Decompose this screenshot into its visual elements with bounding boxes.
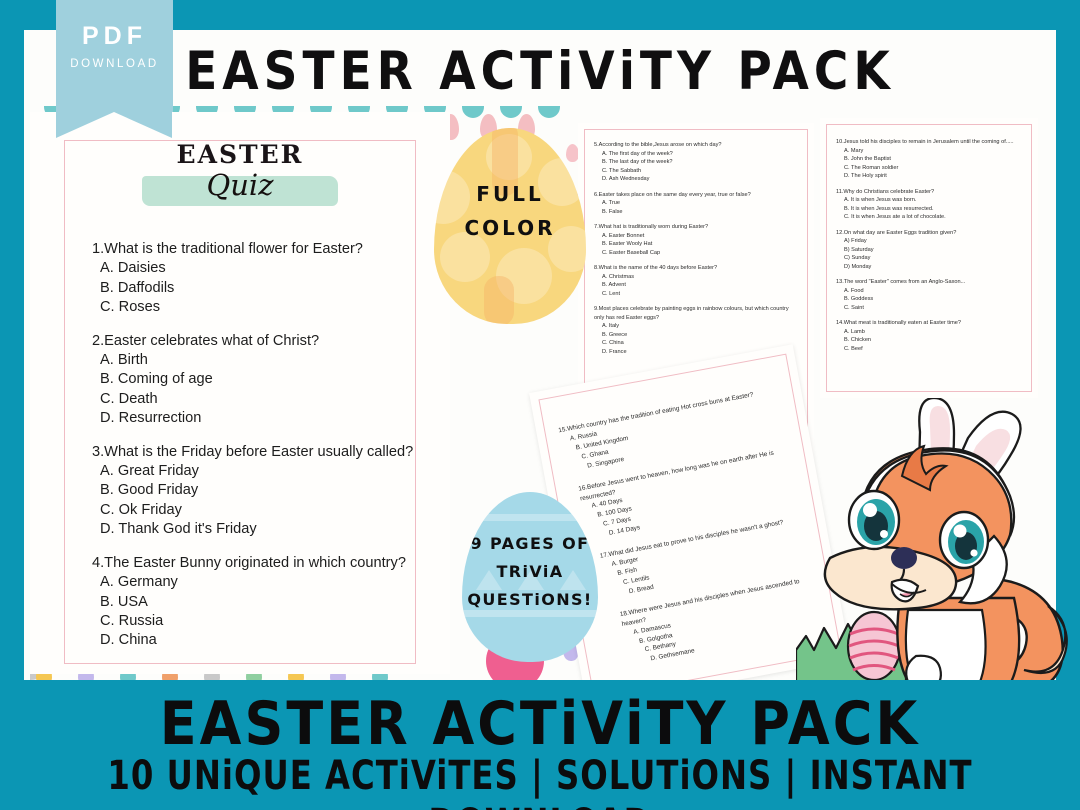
easter-egg-striped (848, 612, 900, 680)
question-option: A. It is when Jesus was born. (844, 196, 1026, 205)
fox-bunny-mascot (796, 398, 1080, 698)
trivia-pages-badge: 9 PAGES OF TRiViA QUESTiONS! (462, 492, 598, 662)
question-block: 11.Why do Christians celebrate Easter?A.… (836, 188, 1026, 222)
full-color-line1: FULL (434, 182, 586, 206)
question-text: 7.What hat is traditionally worn during … (594, 223, 798, 232)
question-option: C. It is when Jesus ate a lot of chocola… (844, 213, 1026, 222)
question-option: B. False (602, 208, 798, 217)
question-option: B) Saturday (844, 246, 1026, 255)
question-option: A. Italy (602, 322, 798, 331)
question-option: A. The first day of the week? (602, 150, 798, 159)
question-option: A. Christmas (602, 273, 798, 282)
question-option: C. Saint (844, 304, 1026, 313)
question-option: B. Easter Wooly Hat (602, 240, 798, 249)
question-block: 3.What is the Friday before Easter usual… (92, 443, 422, 540)
question-option: B. John the Baptist (844, 155, 1026, 164)
question-block: 13.The word "Easter" comes from an Anglo… (836, 278, 1026, 312)
question-block: 1.What is the traditional flower for Eas… (92, 240, 422, 318)
question-option: A. Easter Bonnet (602, 232, 798, 241)
question-option: B. It is when Jesus was resurrected. (844, 205, 1026, 214)
question-option: B. Daffodils (100, 279, 422, 298)
fox-head (825, 446, 1014, 609)
question-option: A) Friday (844, 237, 1026, 246)
question-option: B. The last day of the week? (602, 158, 798, 167)
trivia-line3: QUESTiONS! (462, 590, 598, 609)
question-option: A. Germany (100, 573, 422, 592)
question-option: B. Greece (602, 331, 798, 340)
question-option: A. Great Friday (100, 462, 422, 481)
question-block: 6.Easter takes place on the same day eve… (594, 191, 798, 217)
quiz-page-left: EASTER Quiz 1.What is the traditional fl… (30, 112, 450, 674)
pdf-ribbon-subtitle: DOWNLOAD (56, 58, 173, 70)
right-question-list: 10.Jesus told his disciples to remain in… (836, 138, 1026, 360)
question-text: 1.What is the traditional flower for Eas… (92, 240, 422, 259)
question-text: 8.What is the name of the 40 days before… (594, 264, 798, 273)
question-text: 6.Easter takes place on the same day eve… (594, 191, 798, 200)
pdf-ribbon-title: PDF (56, 22, 173, 51)
footer-subtitle: 10 UNiQUE ACTiViTES | SOLUTiONS | INSTAN… (11, 751, 1069, 810)
fox-eye-right (940, 512, 988, 568)
quiz-question-list: 1.What is the traditional flower for Eas… (92, 240, 422, 665)
question-option: C. Ok Friday (100, 501, 422, 520)
question-block: 5.According to the bible,Jesus arose on … (594, 141, 798, 184)
question-option: C. Lent (602, 290, 798, 299)
question-block: 12.On what day are Easter Eggs tradition… (836, 229, 1026, 272)
fox-eye-left (849, 491, 899, 549)
question-option: B. USA (100, 593, 422, 612)
question-text: 3.What is the Friday before Easter usual… (92, 443, 422, 462)
question-block: 4.The Easter Bunny originated in which c… (92, 554, 422, 651)
question-option: C. Roses (100, 298, 422, 317)
question-option: B. Good Friday (100, 481, 422, 500)
question-option: A. Mary (844, 147, 1026, 156)
question-option: D. Thank God it's Friday (100, 520, 422, 539)
pdf-download-ribbon: PDF DOWNLOAD (56, 0, 173, 112)
question-option: A. Lamb (844, 328, 1026, 337)
question-block: 14.What meat is traditionally eaten at E… (836, 319, 1026, 353)
quiz-page-right: 10.Jesus told his disciples to remain in… (820, 118, 1038, 398)
quiz-heading: EASTER (30, 140, 450, 169)
trivia-line2: TRiViA (462, 562, 598, 581)
egg-stripe (462, 514, 598, 521)
question-option: C. Death (100, 390, 422, 409)
question-option: D. The Holy spirit (844, 172, 1026, 181)
question-option: B. Coming of age (100, 370, 422, 389)
question-option: D. Ash Wednesday (602, 175, 798, 184)
question-option: B. Chicken (844, 336, 1026, 345)
question-option: A. True (602, 199, 798, 208)
question-option: B. Advent (602, 281, 798, 290)
question-text: 12.On what day are Easter Eggs tradition… (836, 229, 1026, 238)
footer-title: EASTER ACTiViTY PACK (0, 689, 1080, 758)
poster-canvas: www.auntjackiearts.com EASTER ACTiViTY P… (0, 0, 1080, 810)
trivia-line1: 9 PAGES OF (462, 534, 598, 553)
question-text: 5.According to the bible,Jesus arose on … (594, 141, 798, 150)
question-text: 10.Jesus told his disciples to remain in… (836, 138, 1026, 147)
question-option: C. Russia (100, 612, 422, 631)
question-option: A. Food (844, 287, 1026, 296)
question-option: C) Sunday (844, 254, 1026, 263)
question-option: C. The Sabbath (602, 167, 798, 176)
egg-blob (484, 276, 514, 324)
question-text: 11.Why do Christians celebrate Easter? (836, 188, 1026, 197)
question-text: 9.Most places celebrate by painting eggs… (594, 305, 798, 322)
question-block: 2.Easter celebrates what of Christ?A. Bi… (92, 332, 422, 429)
question-text: 13.The word "Easter" comes from an Anglo… (836, 278, 1026, 287)
bottom-banner: EASTER ACTiViTY PACK 10 UNiQUE ACTiViTES… (0, 680, 1080, 810)
full-color-line2: COLOR (434, 216, 586, 240)
question-option: D. China (100, 631, 422, 650)
question-option: A. Birth (100, 351, 422, 370)
question-text: 14.What meat is traditionally eaten at E… (836, 319, 1026, 328)
middle-question-list: 5.According to the bible,Jesus arose on … (594, 141, 798, 363)
question-block: 10.Jesus told his disciples to remain in… (836, 138, 1026, 181)
question-option: C. The Roman soldier (844, 164, 1026, 173)
question-option: D. Resurrection (100, 409, 422, 428)
question-option: D) Monday (844, 263, 1026, 272)
quiz-script-word: Quiz (30, 168, 450, 202)
question-option: C. Beef (844, 345, 1026, 354)
question-option: B. Goddess (844, 295, 1026, 304)
question-text: 4.The Easter Bunny originated in which c… (92, 554, 422, 573)
question-option: C. Easter Baseball Cap (602, 249, 798, 258)
egg-stripe (462, 610, 598, 617)
question-text: 2.Easter celebrates what of Christ? (92, 332, 422, 351)
question-block: 8.What is the name of the 40 days before… (594, 264, 798, 298)
question-block: 7.What hat is traditionally worn during … (594, 223, 798, 257)
question-option: C. China (602, 339, 798, 348)
question-option: A. Daisies (100, 259, 422, 278)
